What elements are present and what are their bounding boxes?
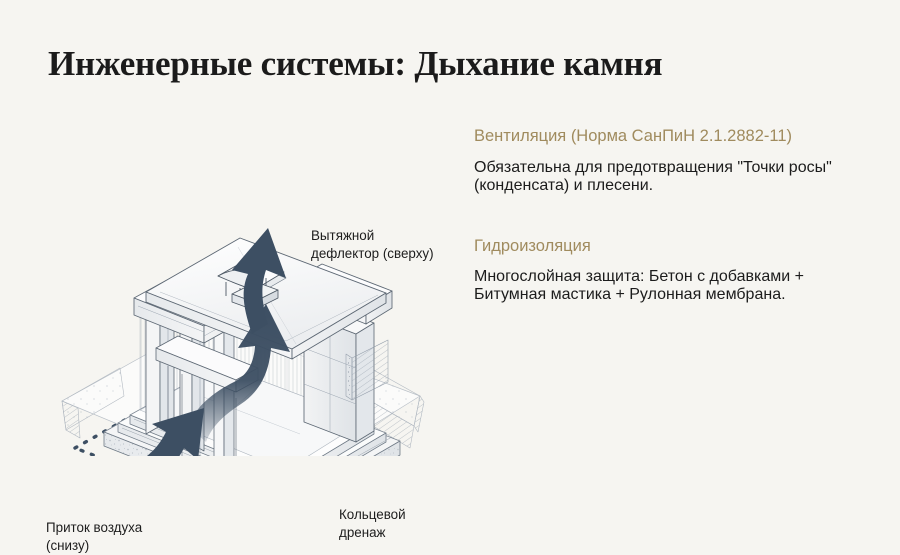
ventilation-diagram: Вытяжной дефлектор (сверху) Приток возду… xyxy=(0,96,470,456)
page-title: Инженерные системы: Дыхание камня xyxy=(48,44,662,84)
diagram-svg xyxy=(0,96,470,456)
section-heading-ventilation: Вентиляция (Норма СанПиН 2.1.2882-11) xyxy=(474,126,864,147)
label-ring-drainage: Кольцевой дренаж xyxy=(339,506,406,542)
body-line: Обязательна для предотвращения "Точки ро… xyxy=(474,159,864,177)
body-line: Битумная мастика + Рулонная мембрана. xyxy=(474,286,864,304)
slide-root: Инженерные системы: Дыхание камня xyxy=(0,0,900,502)
section-heading-waterproofing: Гидроизоляция xyxy=(474,236,864,257)
section-ventilation: Вентиляция (Норма СанПиН 2.1.2882-11) Об… xyxy=(474,126,864,195)
info-panel: Вентиляция (Норма СанПиН 2.1.2882-11) Об… xyxy=(474,126,864,320)
section-waterproofing: Гидроизоляция Многослойная защита: Бетон… xyxy=(474,236,864,305)
body-line: Многослойная защита: Бетон с добавками + xyxy=(474,268,864,286)
body-line: (конденсата) и плесени. xyxy=(474,177,864,195)
label-exhaust-deflector: Вытяжной дефлектор (сверху) xyxy=(311,227,434,263)
label-air-intake: Приток воздуха (снизу) xyxy=(46,519,142,555)
